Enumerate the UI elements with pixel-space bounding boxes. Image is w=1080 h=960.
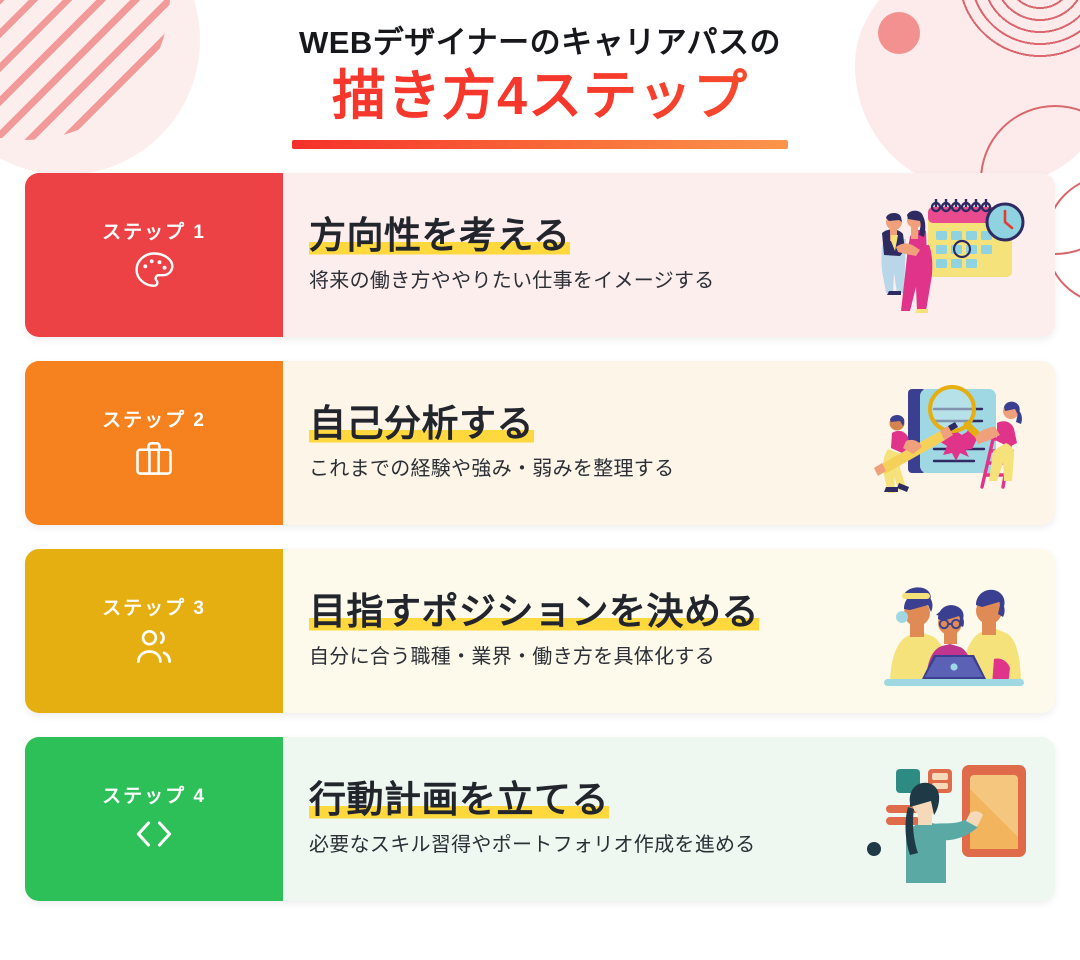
step-body-3: 目指すポジションを決める 自分に合う職種・業界・働き方を具体化する — [283, 549, 1055, 713]
step-card-4[interactable]: ステップ 4 行動計画を立てる 必要なスキル習得やポートフォリオ作成を進める — [25, 737, 1055, 901]
team-laptop-illustration — [866, 567, 1041, 695]
step-card-2[interactable]: ステップ 2 自己分析する これまでの経験や強み・弱みを整理する — [25, 361, 1055, 525]
step-badge-4: ステップ 4 — [25, 737, 283, 901]
step-card-1[interactable]: ステップ 1 方向性を考える 将来の働き方ややりたい仕事をイメージする — [25, 173, 1055, 337]
step-badge-label: ステップ 2 — [102, 405, 206, 432]
person-whiteboard-illustration — [866, 755, 1041, 883]
step-subtitle: 必要なスキル習得やポートフォリオ作成を進める — [309, 832, 865, 858]
page-title-primary: WEBデザイナーのキャリアパスの — [0, 22, 1080, 64]
title-underline-bar — [292, 140, 788, 149]
handshake-calendar-clock-illustration — [866, 191, 1041, 319]
document-magnifier-ladder-illustration — [866, 379, 1041, 507]
palette-icon — [132, 248, 176, 292]
step-subtitle: これまでの経験や強み・弱みを整理する — [309, 456, 865, 482]
step-heading: 目指すポジションを決める — [309, 591, 759, 632]
users-icon — [132, 624, 176, 668]
step-badge-2: ステップ 2 — [25, 361, 283, 525]
code-brackets-icon — [132, 812, 176, 856]
step-badge-3: ステップ 3 — [25, 549, 283, 713]
briefcase-icon — [132, 436, 176, 480]
step-badge-label: ステップ 3 — [102, 593, 206, 620]
page-header: WEBデザイナーのキャリアパスの 描き方4ステップ — [0, 0, 1080, 149]
step-badge-1: ステップ 1 — [25, 173, 283, 337]
step-card-3[interactable]: ステップ 3 目指すポジションを決める 自分に合う職種・業界・働き方を具体化する — [25, 549, 1055, 713]
step-badge-label: ステップ 4 — [102, 781, 206, 808]
step-heading: 行動計画を立てる — [309, 779, 609, 820]
steps-list: ステップ 1 方向性を考える 将来の働き方ややりたい仕事をイメージする — [0, 173, 1080, 901]
step-body-4: 行動計画を立てる 必要なスキル習得やポートフォリオ作成を進める — [283, 737, 1055, 901]
step-badge-label: ステップ 1 — [102, 217, 206, 244]
step-heading: 自己分析する — [309, 403, 534, 444]
page-title-secondary: 描き方4ステップ — [0, 64, 1080, 130]
step-subtitle: 将来の働き方ややりたい仕事をイメージする — [309, 268, 865, 294]
step-body-2: 自己分析する これまでの経験や強み・弱みを整理する — [283, 361, 1055, 525]
step-heading: 方向性を考える — [309, 215, 570, 256]
step-subtitle: 自分に合う職種・業界・働き方を具体化する — [309, 644, 865, 670]
step-body-1: 方向性を考える 将来の働き方ややりたい仕事をイメージする — [283, 173, 1055, 337]
